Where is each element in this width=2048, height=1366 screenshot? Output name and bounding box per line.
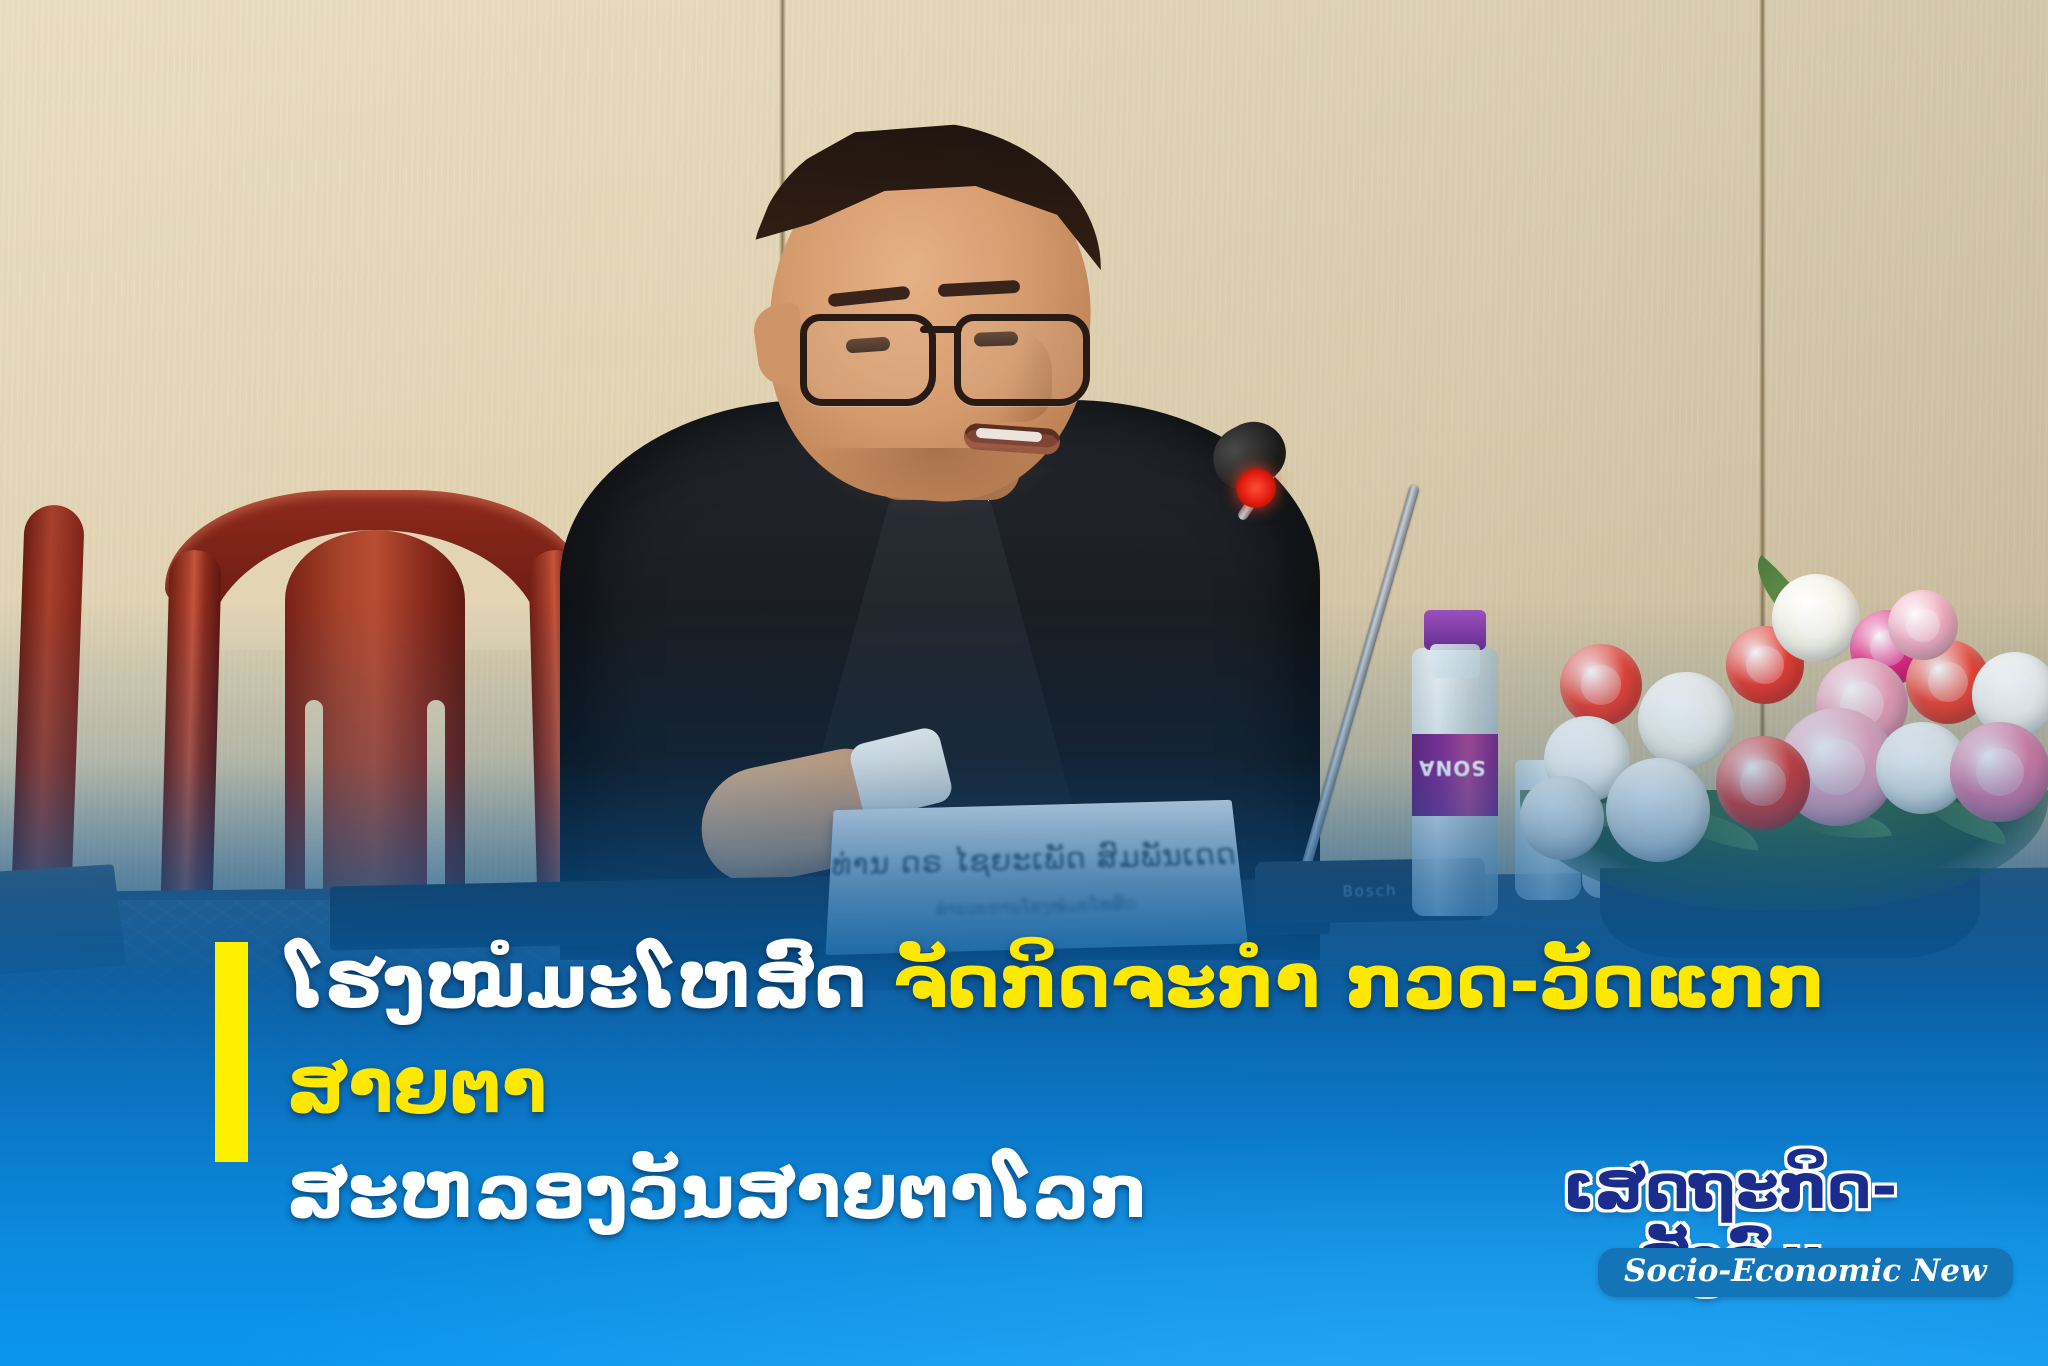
flower-rose-white-7 [1520, 776, 1604, 860]
bottle-label-text: SONA [1418, 756, 1486, 780]
flower-rose-red-4 [1716, 736, 1810, 830]
flower-rose-pink-2 [1888, 590, 1958, 660]
wooden-chair [165, 490, 585, 920]
publication-logo[interactable]: ເສດຖະກິດ-ສັງຄົມ Socio-Economic New [1490, 1150, 1970, 1320]
flower-arrangement [1520, 540, 2048, 940]
name-plate-line1: ທ່ານ ດຣ ໄຊຍະເພັດ ສົມພັນເດດ [830, 838, 1240, 882]
name-plate-line2: ອຳນວຍການໂຮງໝໍມະໂຫສົດ [827, 892, 1244, 923]
chair-splat [285, 530, 465, 920]
logo-english-name: Socio-Economic New [1598, 1248, 2013, 1297]
flower-rose-red [1560, 644, 1642, 726]
bottle-label: SONA [1412, 734, 1498, 816]
eyeglasses-lens-right [954, 314, 1090, 406]
speaker-chin-shadow [810, 448, 1060, 518]
microphone-status-light [1236, 468, 1276, 508]
laptop-lid [0, 864, 126, 974]
flower-rose-pink-3 [1950, 722, 2048, 822]
water-bottle: SONA [1412, 648, 1498, 916]
flower-rose-white [1638, 672, 1734, 768]
chair-post-left [160, 549, 222, 920]
flower-rose-white-3 [1772, 574, 1860, 662]
flower-rose-white-6 [1606, 758, 1710, 862]
headline-line1-segment-white: ໂຮງໝໍມະໂຫສົດ [287, 939, 893, 1025]
news-graphic-card: ທ່ານ ດຣ ໄຊຍະເພັດ ສົມພັນເດດ ອຳນວຍການໂຮງໝໍ… [0, 0, 2048, 1366]
eyeglasses-icon [796, 308, 1096, 400]
headline-accent-bar [215, 942, 248, 1162]
eyeglasses-bridge [920, 326, 962, 333]
eyeglasses-lens-left [800, 314, 936, 406]
bottle-neck [1430, 644, 1480, 678]
